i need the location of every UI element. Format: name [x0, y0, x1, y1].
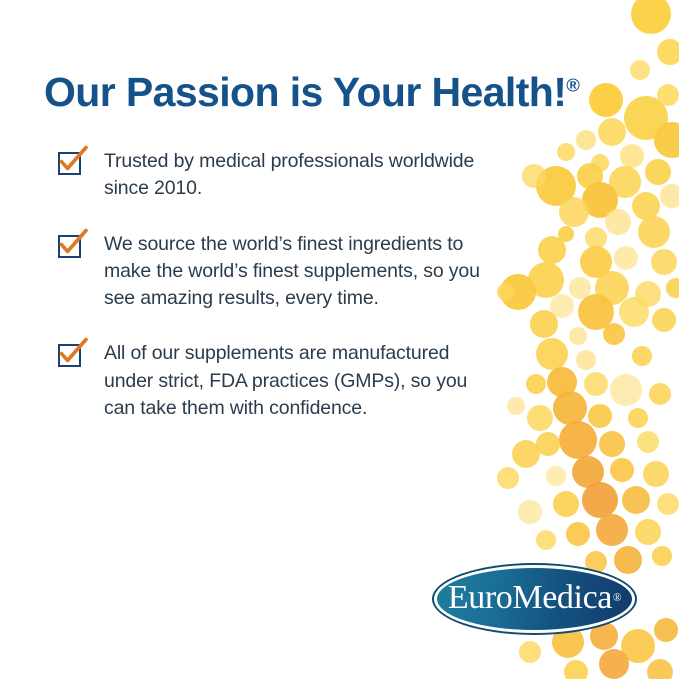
- logo-registered-trademark-icon: ®: [613, 592, 621, 604]
- bubble-58: [536, 432, 560, 456]
- bubble-46: [547, 367, 577, 397]
- logo-wordmark-text: EuroMedica: [448, 579, 612, 617]
- bubble-56: [559, 421, 597, 459]
- bubble-66: [582, 482, 618, 518]
- bubble-42: [497, 283, 515, 301]
- bubble-26: [580, 246, 612, 278]
- bubble-69: [657, 493, 679, 515]
- checked-checkbox-icon: [58, 344, 81, 367]
- bubble-28: [651, 249, 677, 275]
- bubble-65: [497, 467, 519, 489]
- bubble-10: [591, 154, 609, 172]
- bubble-20: [559, 197, 589, 227]
- bubble-37: [619, 297, 649, 327]
- bubble-16: [522, 164, 546, 188]
- bubble-4: [657, 84, 679, 106]
- logo-wordmark: EuroMedica®: [432, 563, 637, 635]
- bubble-2: [630, 60, 650, 80]
- bubble-50: [649, 383, 671, 405]
- bubble-71: [596, 514, 628, 546]
- bubble-60: [512, 440, 540, 468]
- list-item: All of our supplements are manufactured …: [58, 340, 488, 422]
- bubble-19: [660, 184, 679, 208]
- bubble-9: [620, 144, 644, 168]
- bubble-23: [585, 227, 607, 249]
- bubble-43: [536, 338, 568, 370]
- promotional-poster: Our Passion is Your Health!® Trusted by …: [0, 0, 679, 679]
- checked-checkbox-icon: [58, 152, 81, 175]
- bubble-59: [637, 431, 659, 453]
- bubble-24: [558, 226, 574, 242]
- bubble-31: [595, 271, 629, 305]
- bubble-68: [553, 491, 579, 517]
- bubble-48: [526, 374, 546, 394]
- list-item-label: We source the world’s finest ingredients…: [104, 231, 488, 313]
- bubble-1: [657, 39, 679, 65]
- bubble-32: [635, 281, 661, 307]
- bubble-21: [605, 209, 631, 235]
- bubble-45: [632, 346, 652, 366]
- bubble-70: [518, 500, 542, 524]
- bubble-14: [577, 163, 603, 189]
- bubble-55: [507, 397, 525, 415]
- list-item: We source the world’s finest ingredients…: [58, 231, 488, 313]
- bubble-57: [599, 431, 625, 457]
- benefits-list: Trusted by medical professionals worldwi…: [58, 148, 488, 450]
- bubble-47: [584, 372, 608, 396]
- bubble-18: [632, 192, 660, 220]
- bubble-73: [635, 519, 661, 545]
- bubble-72: [566, 522, 590, 546]
- bubble-52: [588, 404, 612, 428]
- bubble-44: [576, 350, 596, 370]
- bubble-6: [598, 118, 626, 146]
- list-item: Trusted by medical professionals worldwi…: [58, 148, 488, 203]
- bubble-29: [528, 262, 564, 298]
- list-item-label: Trusted by medical professionals worldwi…: [104, 148, 488, 203]
- bubble-54: [628, 408, 648, 428]
- bubble-27: [614, 246, 638, 270]
- page-title-text: Our Passion is Your Health!: [44, 69, 566, 115]
- bubble-84: [647, 659, 673, 679]
- bubble-25: [538, 236, 566, 264]
- bubble-40: [603, 323, 625, 345]
- euromedica-logo: EuroMedica®: [432, 563, 637, 635]
- bubble-53: [527, 405, 553, 431]
- checked-checkbox-icon: [58, 235, 81, 258]
- bubble-7: [576, 130, 596, 150]
- bubble-38: [652, 308, 676, 332]
- bubble-39: [530, 310, 558, 338]
- registered-trademark-icon: ®: [566, 75, 580, 96]
- bubble-11: [557, 143, 575, 161]
- bubble-36: [578, 294, 614, 330]
- bubble-17: [582, 182, 618, 218]
- bubble-62: [610, 458, 634, 482]
- bubble-15: [536, 166, 576, 206]
- bubble-64: [643, 461, 669, 487]
- bubble-41: [569, 327, 587, 345]
- bubble-0: [631, 0, 671, 34]
- bubble-30: [569, 277, 591, 299]
- bubble-82: [599, 649, 629, 679]
- bubble-12: [645, 159, 671, 185]
- bubble-5: [624, 96, 668, 140]
- bubble-22: [638, 216, 670, 248]
- bubble-35: [550, 294, 574, 318]
- bubble-81: [654, 618, 678, 642]
- bubble-63: [546, 466, 566, 486]
- bubble-34: [500, 274, 536, 310]
- bubble-67: [622, 486, 650, 514]
- bubble-74: [536, 530, 556, 550]
- list-item-label: All of our supplements are manufactured …: [104, 340, 488, 422]
- bubble-85: [519, 641, 541, 663]
- bubble-51: [553, 391, 587, 425]
- bubble-76: [652, 546, 672, 566]
- bubble-61: [572, 456, 604, 488]
- bubble-33: [666, 278, 679, 298]
- bubble-83: [564, 660, 588, 679]
- bubble-8: [654, 122, 679, 158]
- page-title: Our Passion is Your Health!®: [44, 71, 624, 114]
- bubble-49: [610, 374, 642, 406]
- bubble-13: [609, 166, 641, 198]
